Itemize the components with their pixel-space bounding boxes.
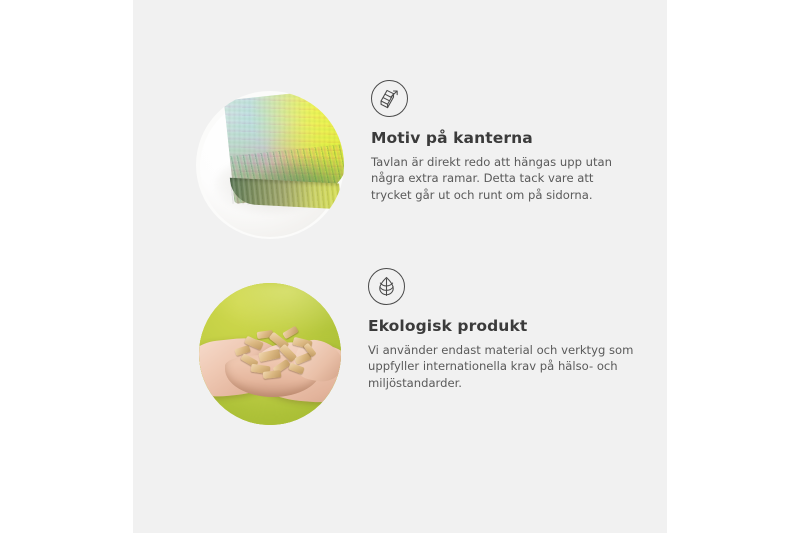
wood-chips-pile [233, 327, 321, 377]
feature-text-column: Ekologisk produkt Vi använder endast mat… [368, 268, 636, 391]
content-panel: Motiv på kanterna Tavlan är direkt redo … [133, 0, 667, 533]
canvas-print-object [224, 91, 344, 226]
feature-block-edges: Motiv på kanterna Tavlan är direkt redo … [133, 80, 621, 239]
hands-holding-wood-chips-photo [199, 283, 341, 425]
feature-description: Tavlan är direkt redo att hängas upp uta… [371, 154, 621, 203]
feature-title: Ekologisk produkt [368, 317, 636, 336]
leaf-icon [368, 268, 405, 305]
canvas-wrapped-edges-icon [371, 80, 408, 117]
feature-title: Motiv på kanterna [371, 129, 621, 148]
canvas-print-corner-photo [196, 91, 344, 239]
canvas-wrapped-edge [230, 178, 342, 210]
feature-block-eco: Ekologisk produkt Vi använder endast mat… [133, 268, 636, 425]
product-info-graphic: Motiv på kanterna Tavlan är direkt redo … [0, 0, 800, 533]
feature-text-column: Motiv på kanterna Tavlan är direkt redo … [371, 80, 621, 203]
feature-description: Vi använder endast material och verktyg … [368, 342, 636, 391]
